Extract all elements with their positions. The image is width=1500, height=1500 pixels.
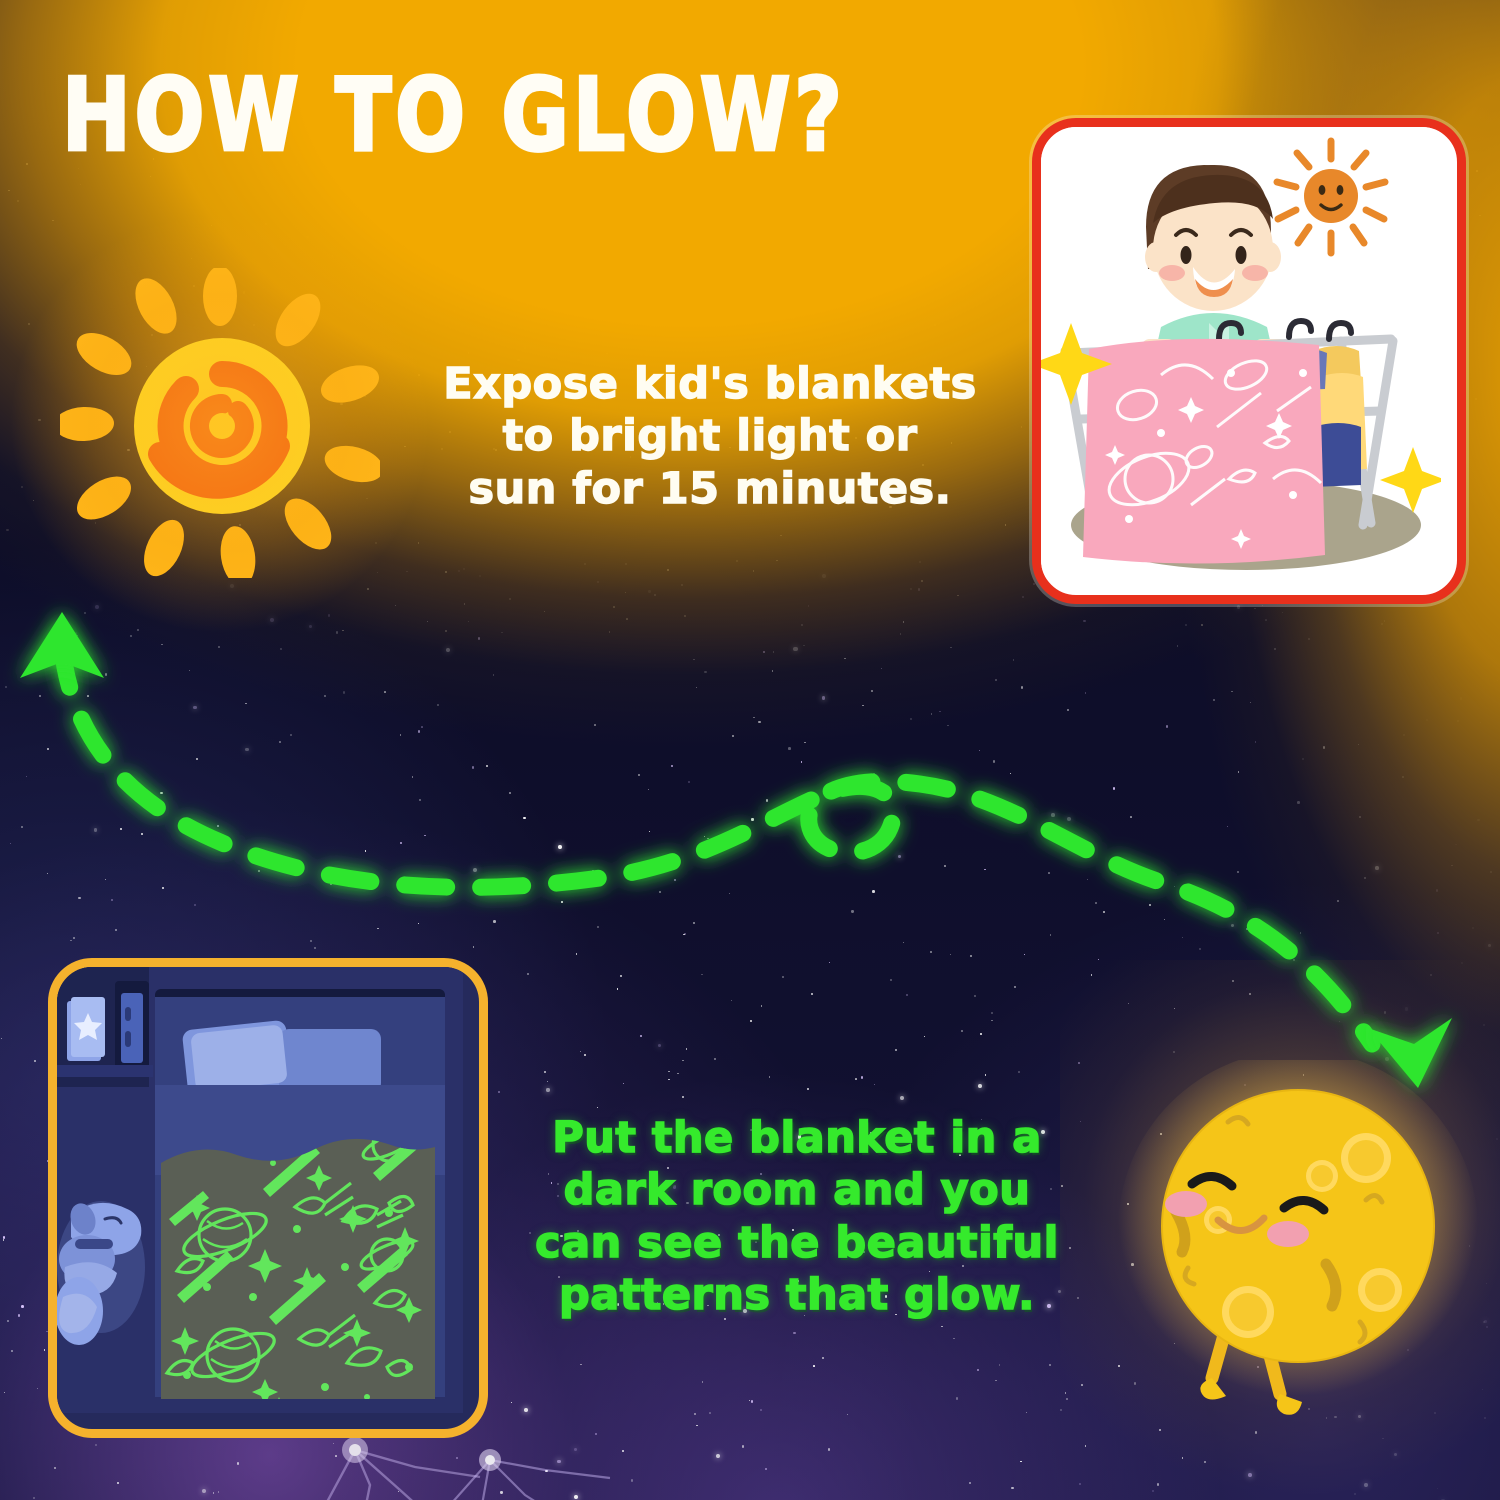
step-2-instruction: Put the blanket in a dark room and you c… [492,1112,1102,1322]
spiral-sun-icon [60,268,380,578]
step-2-line-4: patterns that glow. [492,1269,1102,1321]
pink-blanket [1083,339,1325,564]
step-2-line-3: can see the beautiful [492,1217,1102,1269]
step-1-line-3: sun for 15 minutes. [410,463,1010,515]
step-2-line-1: Put the blanket in a [492,1112,1102,1164]
infographic-canvas: HOW TO GLOW? Exp [0,0,1500,1500]
step-1-line-1: Expose kid's blankets [410,358,1010,410]
moon-character-icon [1108,1060,1488,1440]
step-1-illustration-card [1032,118,1466,604]
step-1-line-2: to bright light or [410,410,1010,462]
glowing-blanket [161,1125,435,1413]
step-1-instruction: Expose kid's blankets to bright light or… [410,358,1010,515]
step-2-line-2: dark room and you [492,1164,1102,1216]
step-2-illustration-card [48,958,488,1438]
page-title: HOW TO GLOW? [62,58,846,174]
